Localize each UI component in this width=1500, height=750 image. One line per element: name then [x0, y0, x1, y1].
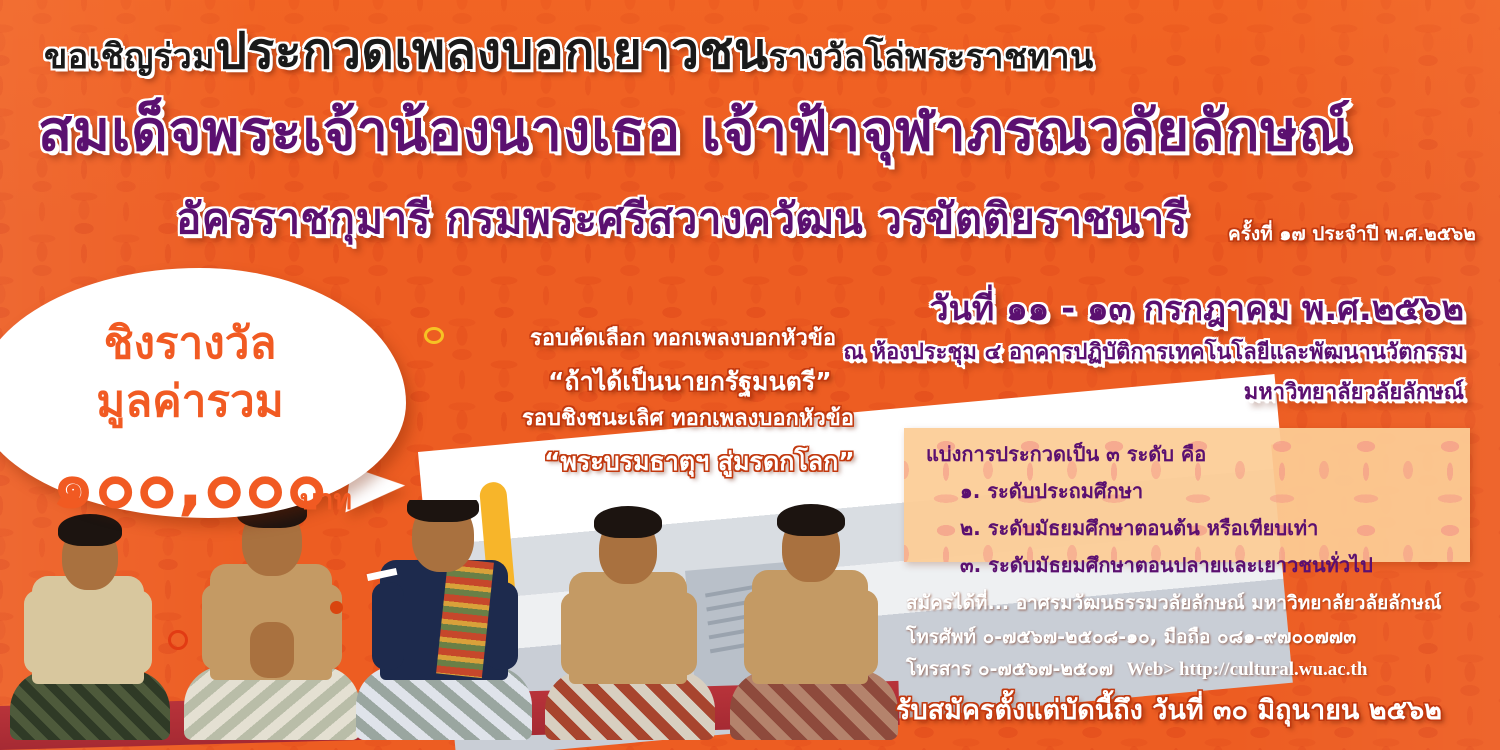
performer-3-singer	[356, 500, 532, 740]
round-1-topic: “ถ้าได้เป็นนายกรัฐมนตรี”	[548, 362, 832, 402]
contact-fax-and-web: โทรสาร ๐-๗๕๖๗-๒๕๐๗ Web> http://cultural.…	[906, 654, 1367, 684]
performer-1	[10, 510, 170, 740]
levels-heading: แบ่งการประกวดเป็น ๓ ระดับ คือ	[926, 438, 1470, 470]
header-line-1-suffix: รางวัลโล่พระราชทาน	[769, 37, 1094, 77]
header-royal-name-line-1: สมเด็จพระเจ้าน้องนางเธอ เจ้าฟ้าจุฬาภรณวล…	[38, 104, 1351, 160]
contact-phone: โทรศัพท์ ๐-๗๕๖๗-๒๕๐๘-๑๐, มือถือ ๐๘๑-๙๗๐๐…	[906, 622, 1356, 652]
performers-photo	[0, 500, 900, 750]
round-1-label: รอบคัดเลือก ทอกเพลงบอกหัวข้อ	[530, 320, 836, 355]
application-deadline: รับสมัครตั้งแต่บัดนี้ถึง วันที่ ๓๐ มิถุน…	[896, 697, 1442, 724]
contact-apply-at: สมัครได้ที่... อาศรมวัฒนธรรมวลัยลักษณ์ ม…	[906, 588, 1442, 618]
level-item-3: ๓. ระดับมัธยมศึกษาตอนปลายและเยาวชนทั่วไป	[960, 549, 1470, 581]
header-edition-label: ครั้งที่ ๑๗ ประจำปี พ.ศ.๒๕๖๒	[1228, 225, 1476, 244]
performer-5	[730, 502, 898, 740]
event-date: วันที่ ๑๑ - ๑๓ กรกฎาคม พ.ศ.๒๕๖๒	[929, 292, 1464, 326]
decorative-ring-1	[424, 327, 444, 344]
header-line-1-prefix: ขอเชิญร่วม	[44, 37, 215, 77]
poster-root: ขอเชิญร่วมประกวดเพลงบอกเยาวชนรางวัลโล่พร…	[0, 0, 1500, 750]
contact-website[interactable]: Web> http://cultural.wu.ac.th	[1126, 659, 1367, 680]
event-venue: ณ ห้องประชุม ๔ อาคารปฏิบัติการเทคโนโลยีแ…	[843, 342, 1464, 364]
round-2-topic: “พระบรมธาตุฯ สู่มรดกโลก”	[544, 442, 855, 482]
prize-currency-unit: บาท	[300, 486, 352, 514]
competition-levels-box: แบ่งการประกวดเป็น ๓ ระดับ คือ ๑. ระดับปร…	[904, 428, 1470, 562]
contact-fax: โทรสาร ๐-๗๕๖๗-๒๕๐๗	[906, 658, 1113, 680]
prize-line-2: มูลค่ารวม	[0, 366, 380, 436]
performer-4	[545, 505, 715, 740]
header-line-1-main: ประกวดเพลงบอกเยาวชน	[215, 22, 769, 80]
header-royal-name-line-2: อัครราชกุมารี กรมพระศรีสวางควัฒน วรขัตติ…	[176, 198, 1188, 240]
decorative-dot	[330, 601, 343, 614]
level-item-2: ๒. ระดับมัธยมศึกษาตอนต้น หรือเทียบเท่า	[960, 512, 1470, 544]
level-item-1: ๑. ระดับประถมศึกษา	[960, 475, 1470, 507]
event-university: มหาวิทยาลัยวลัยลักษณ์	[1244, 382, 1464, 404]
round-2-label: รอบชิงชนะเลิศ ทอกเพลงบอกหัวข้อ	[522, 400, 854, 435]
header-line-1: ขอเชิญร่วมประกวดเพลงบอกเยาวชนรางวัลโล่พร…	[44, 26, 1094, 76]
decorative-ring-2	[168, 630, 188, 650]
